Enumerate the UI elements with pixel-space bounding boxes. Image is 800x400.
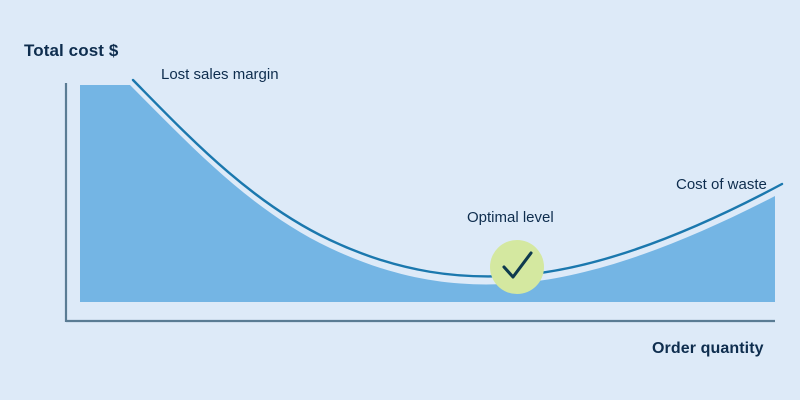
cost-curve-chart: Total cost $ Order quantity Lost sales m… — [0, 0, 800, 400]
annotation-optimal-level: Optimal level — [467, 210, 554, 225]
annotation-cost-of-waste: Cost of waste — [676, 177, 767, 192]
check-circle-icon — [490, 240, 544, 294]
y-axis-title: Total cost $ — [24, 42, 118, 59]
cost-area-fill — [80, 85, 775, 302]
x-axis-title: Order quantity — [652, 341, 764, 357]
annotation-lost-sales-margin: Lost sales margin — [161, 67, 279, 82]
